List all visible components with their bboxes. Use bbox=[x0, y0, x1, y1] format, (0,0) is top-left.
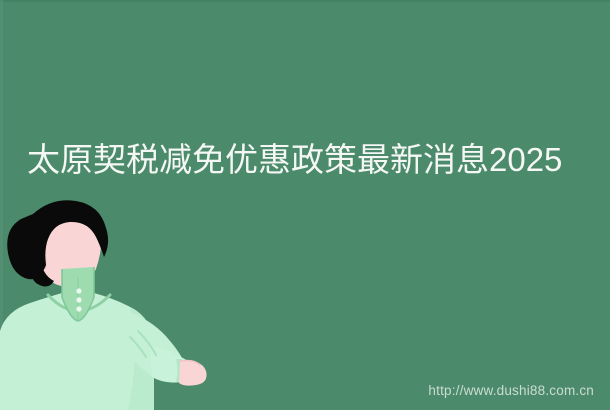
watermark-url: http://www.dushi88.com.cn bbox=[428, 383, 594, 398]
collar-button bbox=[76, 306, 81, 311]
collar-button bbox=[76, 297, 81, 302]
top-edge-line bbox=[0, 0, 610, 2]
person-illustration bbox=[0, 195, 210, 410]
page-title: 太原契税减免优惠政策最新消息2025 bbox=[27, 138, 587, 182]
collar-button bbox=[76, 288, 81, 293]
hand bbox=[179, 361, 207, 386]
cover-image: 太原契税减免优惠政策最新消息2025 http://www.dushi88.co… bbox=[0, 0, 610, 410]
